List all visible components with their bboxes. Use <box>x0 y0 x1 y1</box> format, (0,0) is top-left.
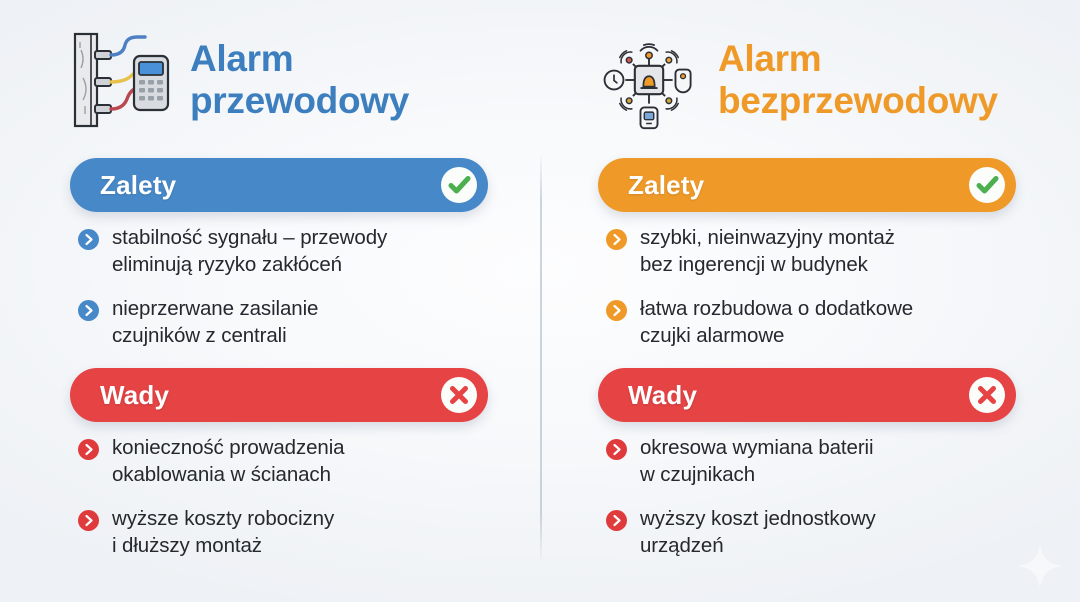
list-pros-wired: stabilność sygnału – przewody eliminują … <box>78 224 548 365</box>
list-item: wyższy koszt jednostkowy urządzeń <box>606 505 1076 560</box>
infographic-board: Alarm przewodowy Zalety stabilność sygna… <box>0 0 1080 602</box>
list-cons-wireless: okresowa wymiana baterii w czujnikach wy… <box>606 434 1076 575</box>
list-pros-wireless: szybki, nieinwazyjny montaż bez ingerenc… <box>606 224 1076 365</box>
x-circle-icon <box>968 376 1006 414</box>
list-item: wyższe koszty robocizny i dłuższy montaż <box>78 505 548 560</box>
banner-pros-wired: Zalety <box>70 158 488 212</box>
check-circle-icon <box>440 166 478 204</box>
column-wireless: Alarm bezprzewodowy Zalety szybki, niein… <box>590 0 1080 602</box>
banner-cons-wireless: Wady <box>598 368 1016 422</box>
chevron-right-circle-icon <box>78 300 99 321</box>
list-item: okresowa wymiana baterii w czujnikach <box>606 434 1076 489</box>
list-cons-wired: konieczność prowadzenia okablowania w śc… <box>78 434 548 575</box>
list-item-text: stabilność sygnału – przewody eliminują … <box>112 224 387 279</box>
chevron-right-circle-icon <box>78 229 99 250</box>
chevron-right-circle-icon <box>606 300 627 321</box>
page-title-wireless: Alarm bezprzewodowy <box>718 38 998 122</box>
header-wired: Alarm przewodowy <box>68 28 409 132</box>
banner-label-cons-wireless: Wady <box>628 380 697 411</box>
wireless-alarm-network-icon <box>596 28 702 132</box>
list-item: konieczność prowadzenia okablowania w śc… <box>78 434 548 489</box>
list-item-text: okresowa wymiana baterii w czujnikach <box>640 434 873 489</box>
list-item: stabilność sygnału – przewody eliminują … <box>78 224 548 279</box>
list-item-text: wyższy koszt jednostkowy urządzeń <box>640 505 876 560</box>
list-item-text: nieprzerwane zasilanie czujników z centr… <box>112 295 318 350</box>
list-item-text: wyższe koszty robocizny i dłuższy montaż <box>112 505 334 560</box>
banner-label-pros-wireless: Zalety <box>628 170 704 201</box>
list-item-text: szybki, nieinwazyjny montaż bez ingerenc… <box>640 224 895 279</box>
x-circle-icon <box>440 376 478 414</box>
chevron-right-circle-icon <box>78 439 99 460</box>
banner-label-pros-wired: Zalety <box>100 170 176 201</box>
chevron-right-circle-icon <box>606 510 627 531</box>
list-item: szybki, nieinwazyjny montaż bez ingerenc… <box>606 224 1076 279</box>
column-wired: Alarm przewodowy Zalety stabilność sygna… <box>62 0 562 602</box>
page-title-wired: Alarm przewodowy <box>190 38 409 122</box>
sparkle-icon <box>1012 540 1068 592</box>
list-item: nieprzerwane zasilanie czujników z centr… <box>78 295 548 350</box>
list-item: łatwa rozbudowa o dodatkowe czujki alarm… <box>606 295 1076 350</box>
banner-label-cons-wired: Wady <box>100 380 169 411</box>
chevron-right-circle-icon <box>606 229 627 250</box>
list-item-text: konieczność prowadzenia okablowania w śc… <box>112 434 344 489</box>
banner-cons-wired: Wady <box>70 368 488 422</box>
list-item-text: łatwa rozbudowa o dodatkowe czujki alarm… <box>640 295 913 350</box>
chevron-right-circle-icon <box>78 510 99 531</box>
banner-pros-wireless: Zalety <box>598 158 1016 212</box>
header-wireless: Alarm bezprzewodowy <box>596 28 998 132</box>
check-circle-icon <box>968 166 1006 204</box>
wired-alarm-keypad-icon <box>68 28 174 132</box>
chevron-right-circle-icon <box>606 439 627 460</box>
